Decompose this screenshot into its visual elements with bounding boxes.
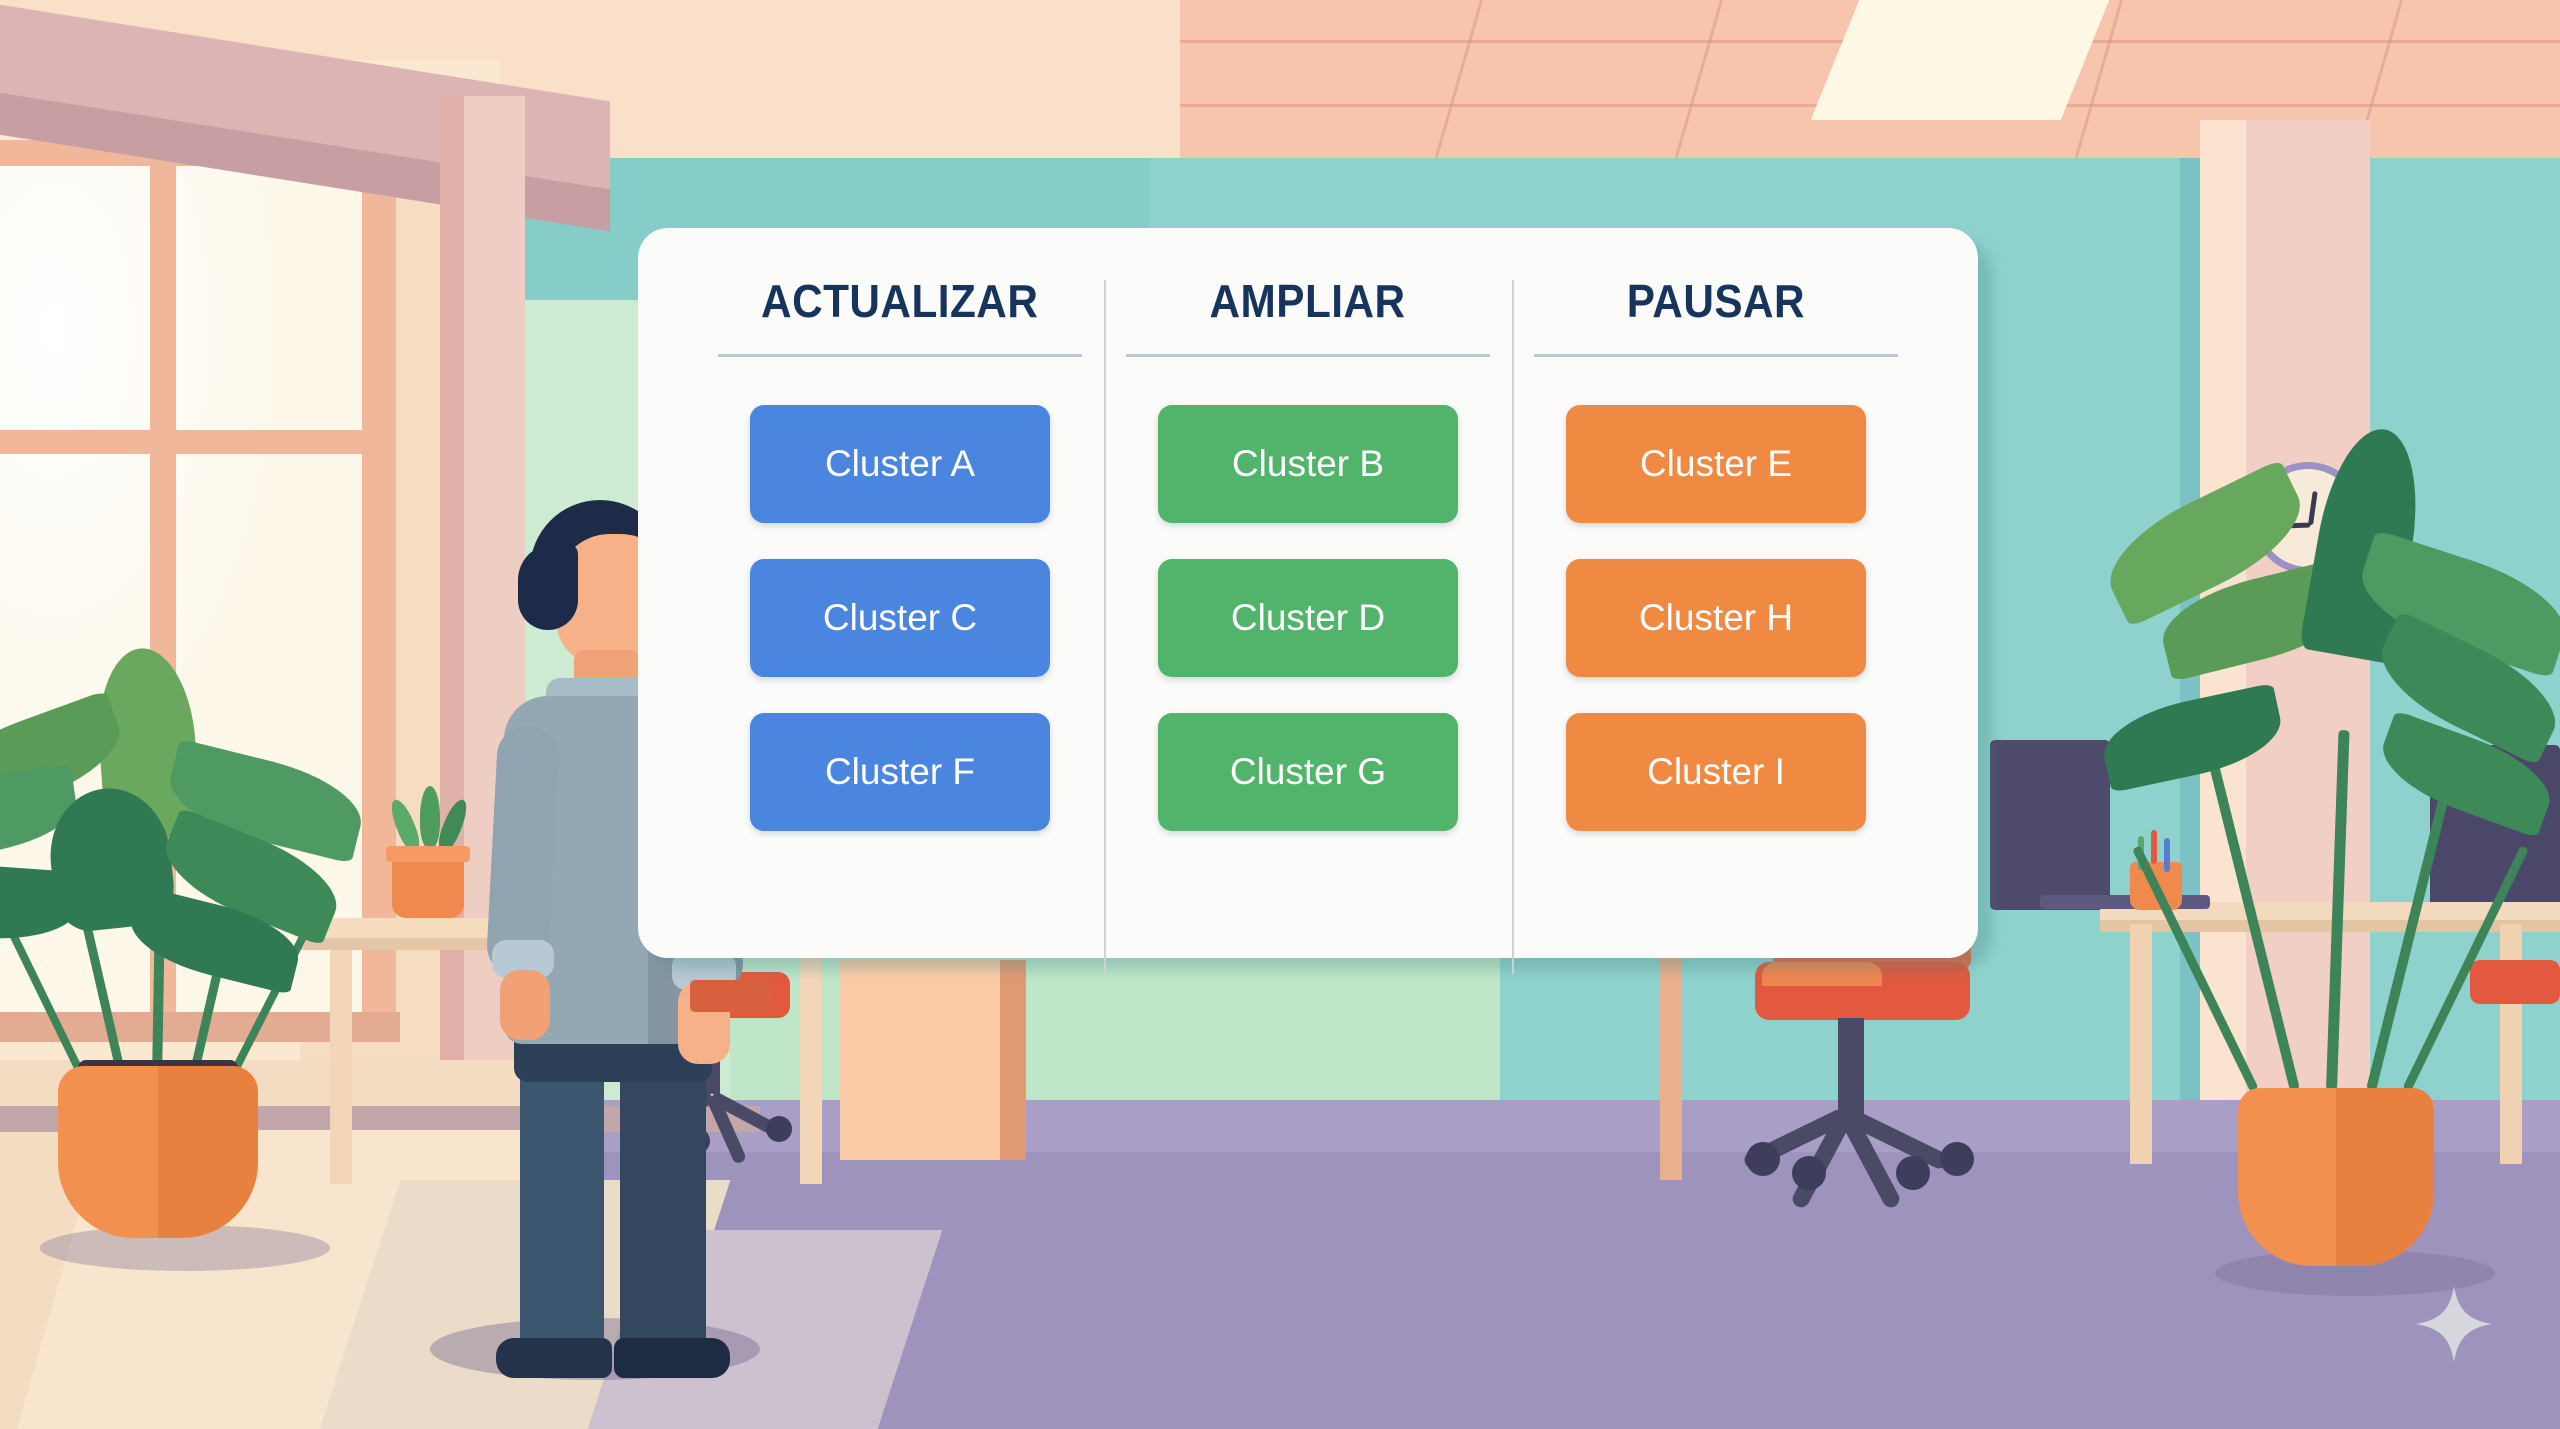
- office-chair-base: [1740, 1100, 1990, 1180]
- column-card-list: Cluster A Cluster C Cluster F: [718, 405, 1082, 831]
- person-shoe-right: [614, 1338, 730, 1378]
- cluster-card[interactable]: Cluster I: [1566, 713, 1866, 831]
- succulent-pot-rim: [386, 846, 470, 862]
- chair-caster: [1896, 1156, 1930, 1190]
- kanban-board: ACTUALIZAR Cluster A Cluster C Cluster F…: [638, 228, 1978, 958]
- plant-stem: [1, 916, 87, 1081]
- chair-caster: [1746, 1142, 1780, 1176]
- cluster-card[interactable]: Cluster B: [1158, 405, 1458, 523]
- plant-stem: [2203, 739, 2300, 1091]
- column-card-list: Cluster B Cluster D Cluster G: [1126, 405, 1490, 831]
- plant-stem: [2326, 730, 2350, 1090]
- succulent-leaf: [420, 786, 440, 848]
- person-leg-left: [520, 1060, 604, 1360]
- person-hair-side: [518, 544, 578, 630]
- cluster-card[interactable]: Cluster E: [1566, 405, 1866, 523]
- plant-right: [2130, 400, 2550, 1120]
- succulent-leaf: [435, 797, 472, 854]
- succulent-leaf: [387, 797, 424, 854]
- ceiling-light-panel: [1811, 0, 2109, 120]
- kanban-column-pausar: PAUSAR Cluster E Cluster H Cluster I: [1512, 274, 1920, 918]
- plant-left: [0, 660, 380, 1080]
- column-rule: [1126, 354, 1490, 357]
- cluster-card[interactable]: Cluster C: [750, 559, 1050, 677]
- pillar-left-edge: [440, 96, 464, 1180]
- column-title-pausar: PAUSAR: [1627, 274, 1805, 328]
- board-leg: [1660, 950, 1682, 1180]
- kanban-column-actualizar: ACTUALIZAR Cluster A Cluster C Cluster F: [696, 274, 1104, 918]
- person-leg-right: [620, 1060, 706, 1360]
- column-title-ampliar: AMPLIAR: [1210, 274, 1406, 328]
- person-shoe-left: [496, 1338, 612, 1378]
- window-mullion-horizontal: [0, 430, 380, 454]
- marker-tray: [690, 980, 770, 1012]
- column-title-actualizar: ACTUALIZAR: [761, 274, 1038, 328]
- chair-caster: [1940, 1142, 1974, 1176]
- cluster-card[interactable]: Cluster H: [1566, 559, 1866, 677]
- column-rule: [718, 354, 1082, 357]
- column-card-list: Cluster E Cluster H Cluster I: [1534, 405, 1898, 831]
- chair-caster: [1792, 1156, 1826, 1190]
- office-scene: ACTUALIZAR Cluster A Cluster C Cluster F…: [0, 0, 2560, 1429]
- sparkle-icon: [2414, 1284, 2494, 1364]
- table-leg: [800, 944, 822, 1184]
- kanban-column-ampliar: AMPLIAR Cluster B Cluster D Cluster G: [1104, 274, 1512, 918]
- column-rule: [1534, 354, 1898, 357]
- board-pedestal-edge: [1000, 960, 1026, 1160]
- cluster-card[interactable]: Cluster F: [750, 713, 1050, 831]
- monitor: [1990, 740, 2110, 910]
- cluster-card[interactable]: Cluster A: [750, 405, 1050, 523]
- person-hand-left: [500, 970, 550, 1040]
- plant-leaf: [0, 860, 81, 944]
- board-pedestal: [840, 960, 1020, 1160]
- kanban-columns: ACTUALIZAR Cluster A Cluster C Cluster F…: [638, 228, 1978, 958]
- cluster-card[interactable]: Cluster G: [1158, 713, 1458, 831]
- cluster-card[interactable]: Cluster D: [1158, 559, 1458, 677]
